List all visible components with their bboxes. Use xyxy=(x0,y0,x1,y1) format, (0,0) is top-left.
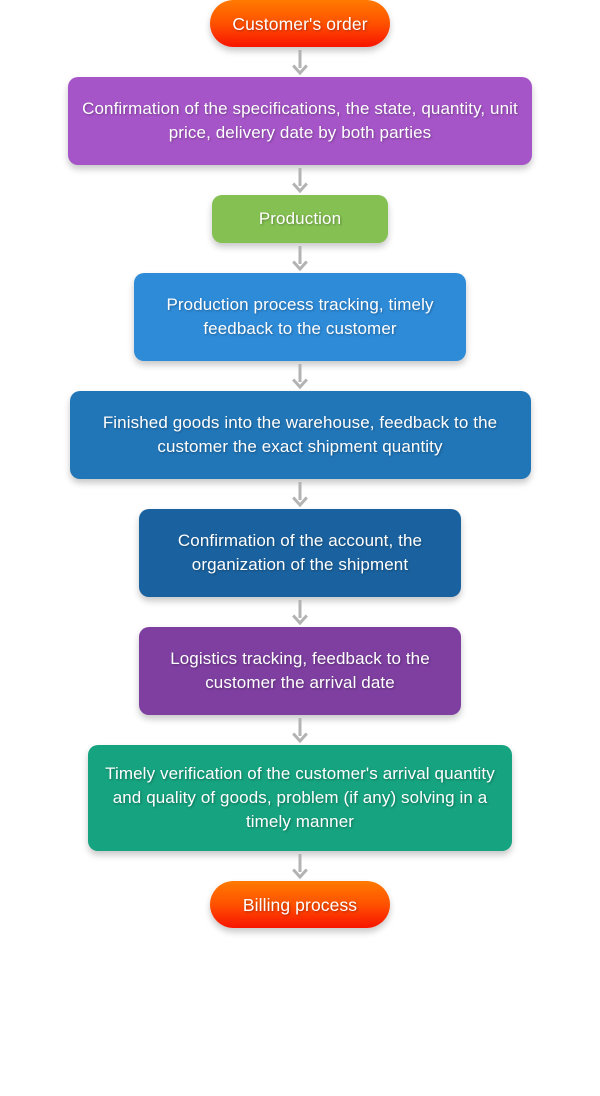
flow-node-confirmation-account[interactable]: Confirmation of the account, the organiz… xyxy=(139,509,461,597)
flow-node-production-process-tracking[interactable]: Production process tracking, timely feed… xyxy=(134,273,466,361)
flow-node-production[interactable]: Production xyxy=(212,195,388,243)
flow-node-finished-goods-warehouse[interactable]: Finished goods into the warehouse, feedb… xyxy=(70,391,531,479)
flow-node-label: Confirmation of the account, the organiz… xyxy=(153,529,447,577)
flow-node-label: Production process tracking, timely feed… xyxy=(148,293,452,341)
flow-node-label: Billing process xyxy=(243,893,357,917)
flowchart-container: Customer's order Confirmation of the spe… xyxy=(0,0,600,1096)
arrow-down-icon-5 xyxy=(285,479,315,509)
arrow-down-icon-1 xyxy=(285,47,315,77)
flow-node-customers-order[interactable]: Customer's order xyxy=(210,0,390,47)
arrow-down-icon-8 xyxy=(285,851,315,881)
flow-node-label: Timely verification of the customer's ar… xyxy=(102,762,498,834)
flow-node-timely-verification[interactable]: Timely verification of the customer's ar… xyxy=(88,745,512,851)
arrow-down-icon-7 xyxy=(285,715,315,745)
flow-node-label: Logistics tracking, feedback to the cust… xyxy=(153,647,447,695)
arrow-down-icon-2 xyxy=(285,165,315,195)
arrow-down-icon-6 xyxy=(285,597,315,627)
arrow-down-icon-4 xyxy=(285,361,315,391)
arrow-down-icon-3 xyxy=(285,243,315,273)
flow-node-label: Customer's order xyxy=(232,12,367,36)
flow-node-label: Confirmation of the specifications, the … xyxy=(82,97,518,145)
flow-node-logistics-tracking[interactable]: Logistics tracking, feedback to the cust… xyxy=(139,627,461,715)
flow-node-confirmation-specifications[interactable]: Confirmation of the specifications, the … xyxy=(68,77,532,165)
flow-node-billing-process[interactable]: Billing process xyxy=(210,881,390,928)
flow-node-label: Finished goods into the warehouse, feedb… xyxy=(84,411,517,459)
flow-node-label: Production xyxy=(259,207,341,231)
